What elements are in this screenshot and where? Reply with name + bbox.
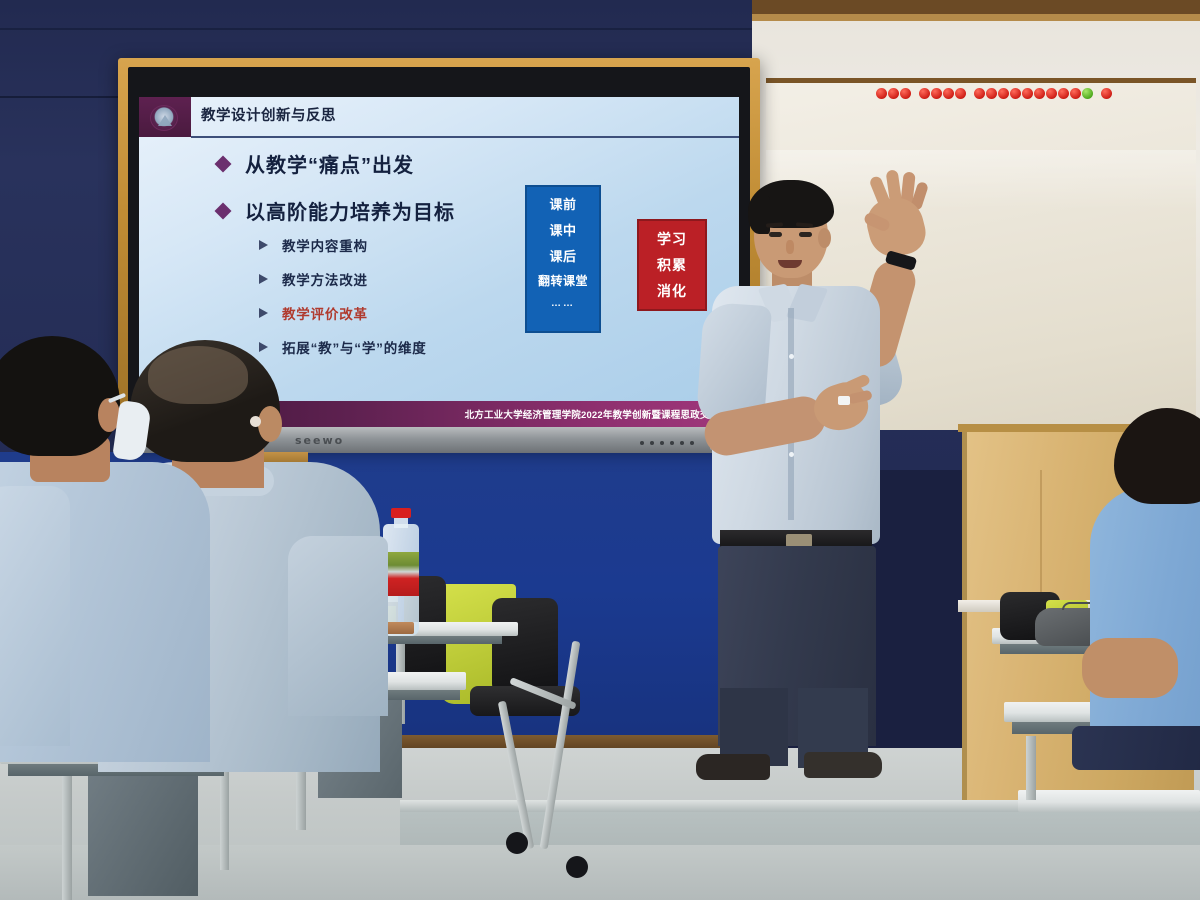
wall-trim-gold bbox=[752, 14, 1200, 21]
audience-arm bbox=[1082, 638, 1178, 698]
magnet-red bbox=[931, 88, 942, 99]
bullet-item: 从教学“痛点”出发 bbox=[217, 149, 455, 178]
earbud bbox=[250, 416, 261, 427]
chair-backrest[interactable] bbox=[492, 598, 558, 694]
blue-box-item: 翻转课堂 bbox=[538, 272, 588, 289]
control-dot[interactable] bbox=[660, 441, 664, 445]
desk-leg bbox=[220, 760, 229, 870]
magnet-red bbox=[974, 88, 985, 99]
control-dot[interactable] bbox=[640, 441, 644, 445]
audience-shoulder bbox=[0, 486, 70, 746]
chair-caster bbox=[506, 832, 528, 854]
folded-jacket bbox=[1072, 726, 1200, 770]
classroom-scene: 教学设计创新与反思 从教学“痛点”出发 以高阶能力培养为目标 教 bbox=[0, 0, 1200, 900]
arrow-bullet-icon bbox=[259, 274, 268, 284]
desk-leg bbox=[62, 776, 72, 900]
magnet-red bbox=[876, 88, 887, 99]
sub-bullet-item: 教学评价改革 bbox=[259, 303, 427, 323]
blue-box-ellipsis: …… bbox=[551, 298, 575, 309]
presenter-eye bbox=[769, 232, 782, 237]
arrow-bullet-icon bbox=[259, 240, 268, 250]
magnet-spacer bbox=[1094, 88, 1100, 99]
wood-grain bbox=[1040, 470, 1042, 600]
magnet-red bbox=[1046, 88, 1057, 99]
desk-leg bbox=[1026, 736, 1036, 800]
chair-caster bbox=[566, 856, 588, 878]
presenter-eye bbox=[799, 232, 812, 237]
university-seal-logo bbox=[150, 105, 178, 131]
magnet-red bbox=[888, 88, 899, 99]
blue-box-item: 课后 bbox=[549, 246, 576, 265]
audience-front-left bbox=[0, 336, 200, 756]
magnet-red bbox=[1010, 88, 1021, 99]
presenter-hair-side bbox=[748, 196, 770, 234]
control-dot[interactable] bbox=[650, 441, 654, 445]
blue-box-item: 课中 bbox=[549, 220, 576, 239]
sub-bullet-text: 教学方法改进 bbox=[282, 269, 368, 289]
presenter-nose bbox=[786, 240, 794, 254]
magnet-red bbox=[1058, 88, 1069, 99]
bullet-text: 以高阶能力培养为目标 bbox=[245, 196, 455, 225]
magnet-red bbox=[1101, 88, 1112, 99]
sub-bullet-item: 教学方法改进 bbox=[259, 269, 427, 289]
slide-main-bullets: 从教学“痛点”出发 以高阶能力培养为目标 bbox=[217, 149, 455, 243]
diamond-bullet-icon bbox=[215, 155, 232, 172]
wall-trim-dark bbox=[752, 0, 1200, 14]
magnet-row bbox=[876, 88, 1112, 99]
magnet-red bbox=[986, 88, 997, 99]
slide-title: 教学设计创新与反思 bbox=[201, 104, 336, 125]
sub-bullet-item: 教学内容重构 bbox=[259, 235, 427, 255]
magnet-green bbox=[1082, 88, 1093, 99]
bottle-cap bbox=[391, 508, 411, 518]
bullet-text: 从教学“痛点”出发 bbox=[245, 149, 414, 178]
presenter-shoe bbox=[804, 752, 882, 778]
magnet-spacer bbox=[912, 88, 918, 99]
diamond-bullet-icon bbox=[215, 202, 232, 219]
magnet-red bbox=[919, 88, 930, 99]
magnet-red bbox=[900, 88, 911, 99]
magnet-red bbox=[998, 88, 1009, 99]
magnet-red bbox=[1070, 88, 1081, 99]
magnet-red bbox=[1034, 88, 1045, 99]
shirt-button bbox=[789, 354, 794, 359]
magnet-red bbox=[943, 88, 954, 99]
magnet-red bbox=[1022, 88, 1033, 99]
audience-hair bbox=[0, 336, 120, 456]
shirt-button bbox=[789, 452, 794, 457]
face-mask bbox=[112, 400, 152, 462]
presenter-ear bbox=[818, 228, 831, 248]
presentation-clicker[interactable] bbox=[838, 396, 850, 405]
audience-sleeve bbox=[288, 536, 388, 716]
blue-phase-box: 课前 课中 课后 翻转课堂 …… bbox=[525, 185, 601, 333]
magnet-red bbox=[955, 88, 966, 99]
bullet-item: 以高阶能力培养为目标 bbox=[217, 196, 455, 225]
sub-bullet-text-highlighted: 教学评价改革 bbox=[282, 303, 368, 323]
magnet-spacer bbox=[967, 88, 973, 99]
audience-torso bbox=[1090, 486, 1200, 736]
presenter-shoe bbox=[696, 754, 770, 780]
audience-ear bbox=[258, 406, 282, 442]
audience-right bbox=[1082, 408, 1200, 808]
title-divider bbox=[191, 136, 739, 138]
audience-hair bbox=[1114, 408, 1200, 504]
blue-box-item: 课前 bbox=[549, 194, 576, 213]
sub-bullet-text: 教学内容重构 bbox=[282, 235, 368, 255]
presenter bbox=[668, 168, 958, 788]
desk-modesty-panel bbox=[88, 776, 198, 896]
water-bottle bbox=[383, 508, 419, 636]
bottle-label bbox=[383, 552, 419, 596]
arrow-bullet-icon bbox=[259, 308, 268, 318]
slide-logo-band bbox=[139, 97, 191, 137]
